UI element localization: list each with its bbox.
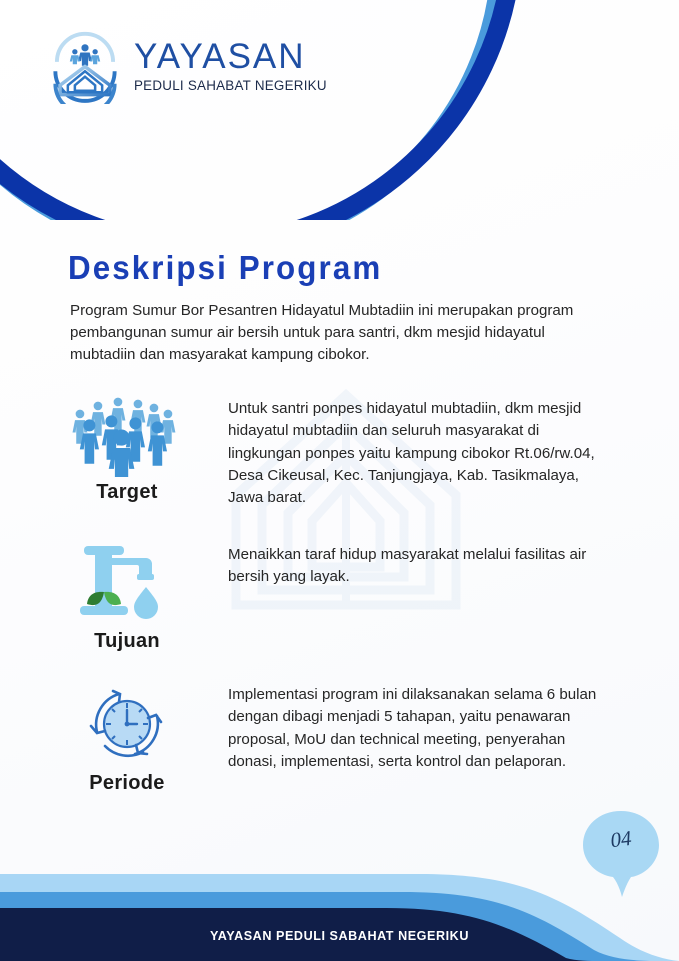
water-faucet-with-drop-icon: [68, 540, 186, 626]
bottom-wave-decoration: [0, 846, 679, 961]
section-icon-tujuan: Tujuan: [52, 540, 202, 653]
section-text-target: Untuk santri ponpes hidayatul mubtadiin,…: [228, 398, 606, 510]
section-label-tujuan: Tujuan: [52, 630, 202, 653]
section-icon-target: Target: [52, 395, 202, 504]
page-title: Deskripsi Program: [68, 249, 382, 287]
crowd-of-people-icon: [67, 395, 187, 477]
main-content: Deskripsi Program Program Sumur Bor Pesa…: [0, 0, 679, 961]
section-icon-periode: Periode: [52, 680, 202, 795]
section-text-tujuan: Menaikkan taraf hidup masyarakat melalui…: [228, 544, 606, 589]
footer-text: YAYASAN PEDULI SABAHAT NEGERIKU: [0, 929, 679, 943]
intro-paragraph: Program Sumur Bor Pesantren Hidayatul Mu…: [70, 300, 604, 367]
clock-with-cycle-arrows-icon: [75, 680, 179, 768]
poster-page: YAYASAN PEDULI SAHABAT NEGERIKU Deskrips…: [0, 0, 679, 961]
section-label-target: Target: [52, 481, 202, 504]
section-label-periode: Periode: [52, 772, 202, 795]
section-text-periode: Implementasi program ini dilaksanakan se…: [228, 684, 606, 773]
